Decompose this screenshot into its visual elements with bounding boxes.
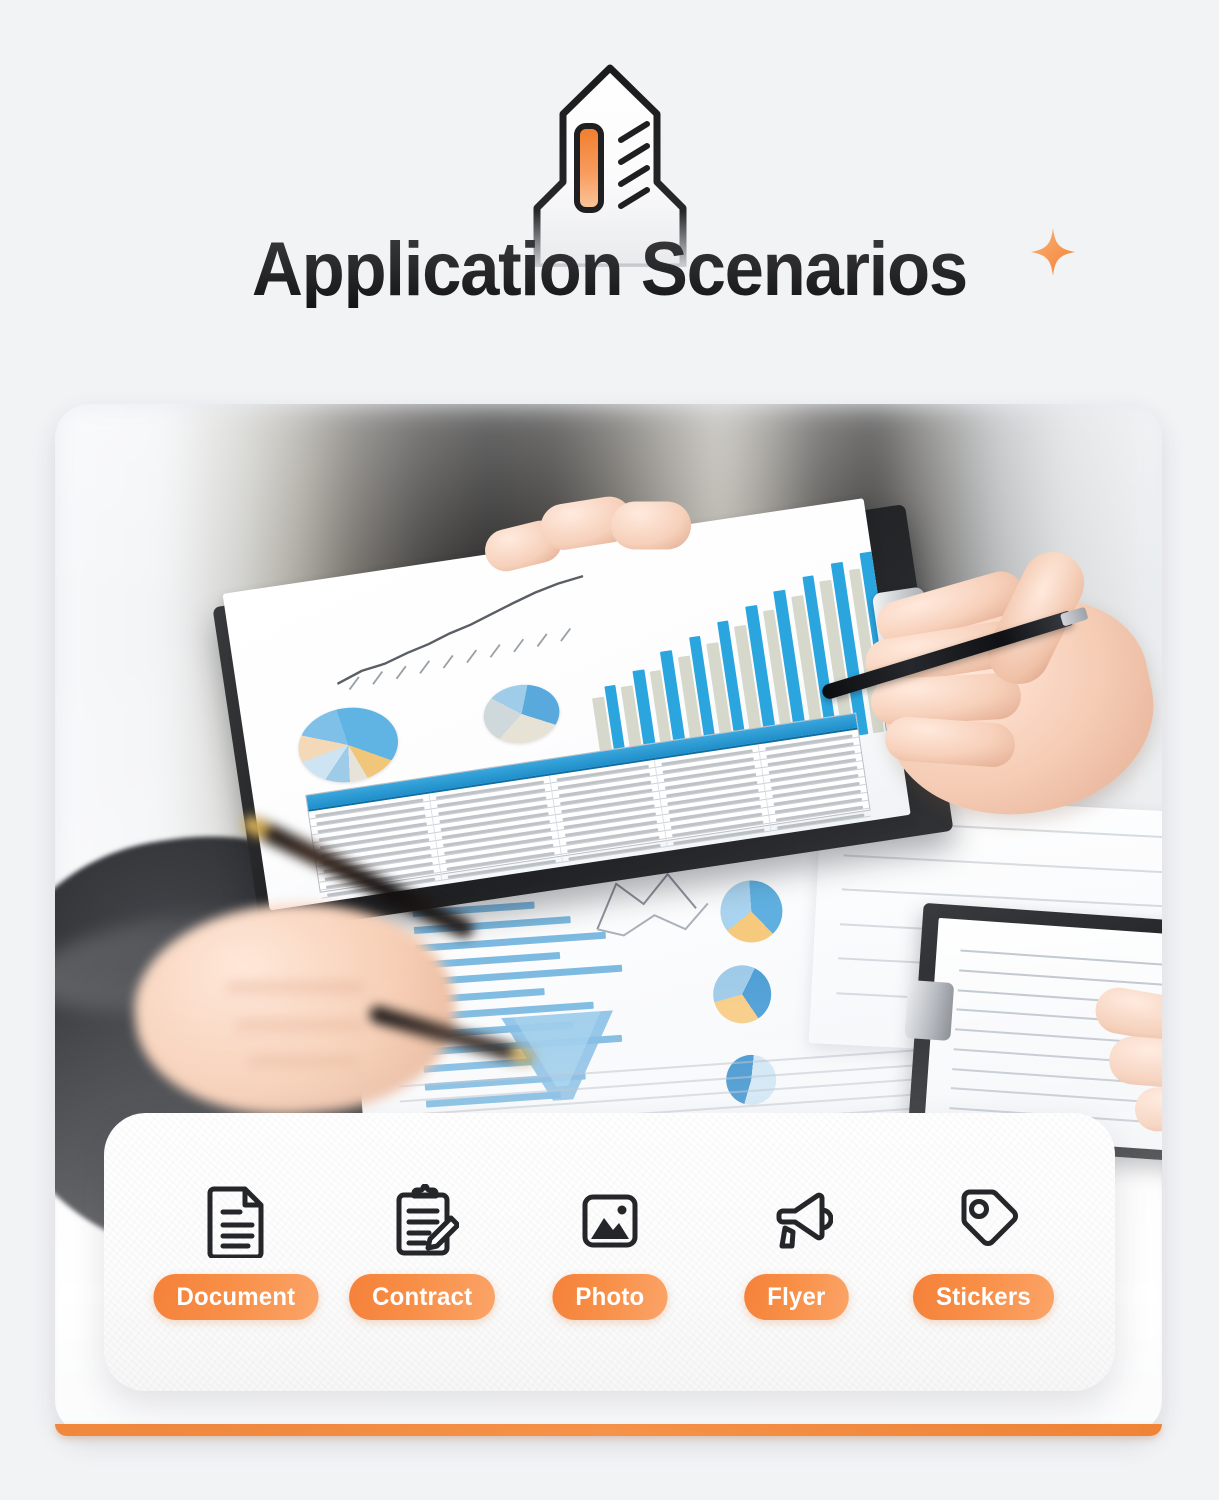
category-item-contract[interactable]: Contract (329, 1184, 516, 1320)
hand-with-pen (855, 556, 1162, 856)
foreground-hand-with-fountain-pen (115, 874, 515, 1134)
document-icon (200, 1184, 272, 1258)
orange-accent-bar (55, 1424, 1162, 1436)
category-item-stickers[interactable]: Stickers (890, 1184, 1077, 1320)
hand-holding-clipboard (480, 481, 700, 612)
category-pill-photo[interactable]: Photo (552, 1274, 667, 1320)
megaphone-icon (761, 1184, 833, 1258)
pie-chart-left (293, 701, 403, 789)
price-tag-icon (948, 1184, 1020, 1258)
application-scenarios-page: Application Scenarios (0, 0, 1219, 1500)
category-item-flyer[interactable]: Flyer (703, 1184, 890, 1320)
category-pill-flyer[interactable]: Flyer (744, 1274, 848, 1320)
image-icon (574, 1184, 646, 1258)
header-section: Application Scenarios (0, 0, 1219, 392)
category-pill-contract[interactable]: Contract (349, 1274, 495, 1320)
mini-pie-chart-1 (719, 878, 785, 944)
category-pill-stickers[interactable]: Stickers (913, 1274, 1054, 1320)
category-card: Document Con (104, 1113, 1115, 1391)
page-title: Application Scenarios (252, 232, 967, 308)
category-list: Document Con (104, 1113, 1115, 1391)
category-pill-document[interactable]: Document (153, 1274, 318, 1320)
sparkle-star-icon (1031, 228, 1075, 276)
clipboard-pen-icon (387, 1184, 459, 1258)
category-item-photo[interactable]: Photo (516, 1184, 703, 1320)
category-item-document[interactable]: Document (142, 1184, 329, 1320)
pie-chart-right (480, 680, 564, 749)
mini-pie-chart-2 (712, 963, 774, 1025)
